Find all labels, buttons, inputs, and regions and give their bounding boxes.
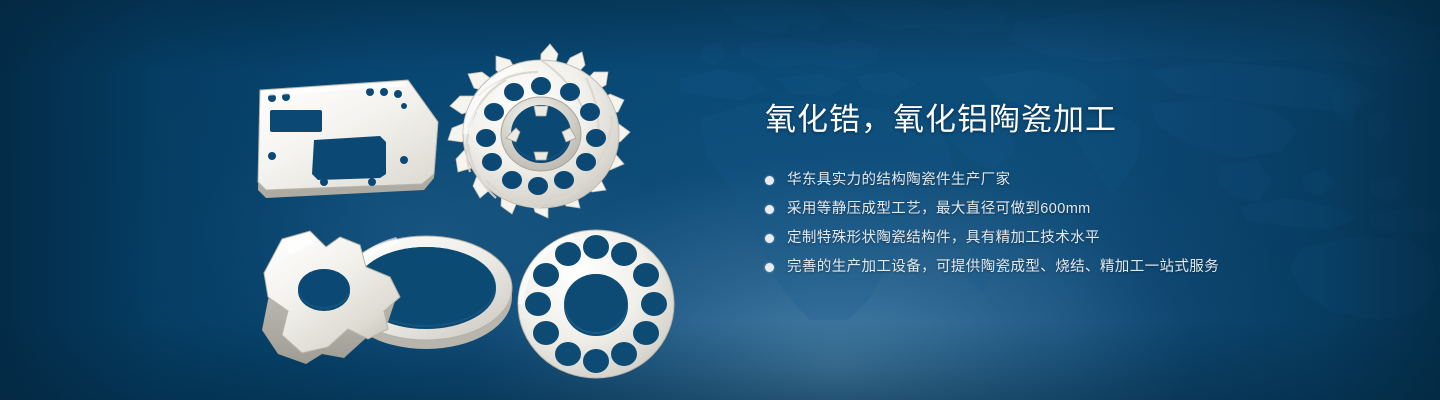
feature-item: 完善的生产加工设备，可提供陶瓷成型、烧结、精加工一站式服务 — [765, 255, 1385, 280]
ceramic-parts-photo-group — [0, 0, 720, 400]
feature-text: 完善的生产加工设备，可提供陶瓷成型、烧结、精加工一站式服务 — [787, 260, 1219, 275]
feature-text: 定制特殊形状陶瓷结构件，具有精加工技术水平 — [787, 231, 1100, 246]
ceramic-cross-part — [248, 225, 458, 380]
banner-feature-list: 华东具实力的结构陶瓷件生产厂家 采用等静压成型工艺，最大直径可做到600mm 定… — [765, 168, 1385, 280]
ceramic-impeller-part — [446, 42, 636, 224]
product-banner: 氧化锆，氧化铝陶瓷加工 华东具实力的结构陶瓷件生产厂家 采用等静压成型工艺，最大… — [0, 0, 1440, 400]
feature-text: 华东具实力的结构陶瓷件生产厂家 — [787, 173, 1011, 188]
bullet-dot-icon — [765, 263, 774, 272]
feature-item: 定制特殊形状陶瓷结构件，具有精加工技术水平 — [765, 226, 1385, 251]
banner-headline: 氧化锆，氧化铝陶瓷加工 — [765, 104, 1385, 135]
feature-text: 采用等静压成型工艺，最大直径可做到600mm — [787, 202, 1091, 217]
banner-copy: 氧化锆，氧化铝陶瓷加工 华东具实力的结构陶瓷件生产厂家 采用等静压成型工艺，最大… — [765, 104, 1385, 284]
feature-item: 采用等静压成型工艺，最大直径可做到600mm — [765, 197, 1385, 222]
ceramic-plate-part — [252, 78, 442, 198]
ceramic-perforated-disc-part — [512, 222, 680, 382]
bullet-dot-icon — [765, 205, 774, 214]
bullet-dot-icon — [765, 234, 774, 243]
feature-item: 华东具实力的结构陶瓷件生产厂家 — [765, 168, 1385, 193]
bullet-dot-icon — [765, 176, 774, 185]
